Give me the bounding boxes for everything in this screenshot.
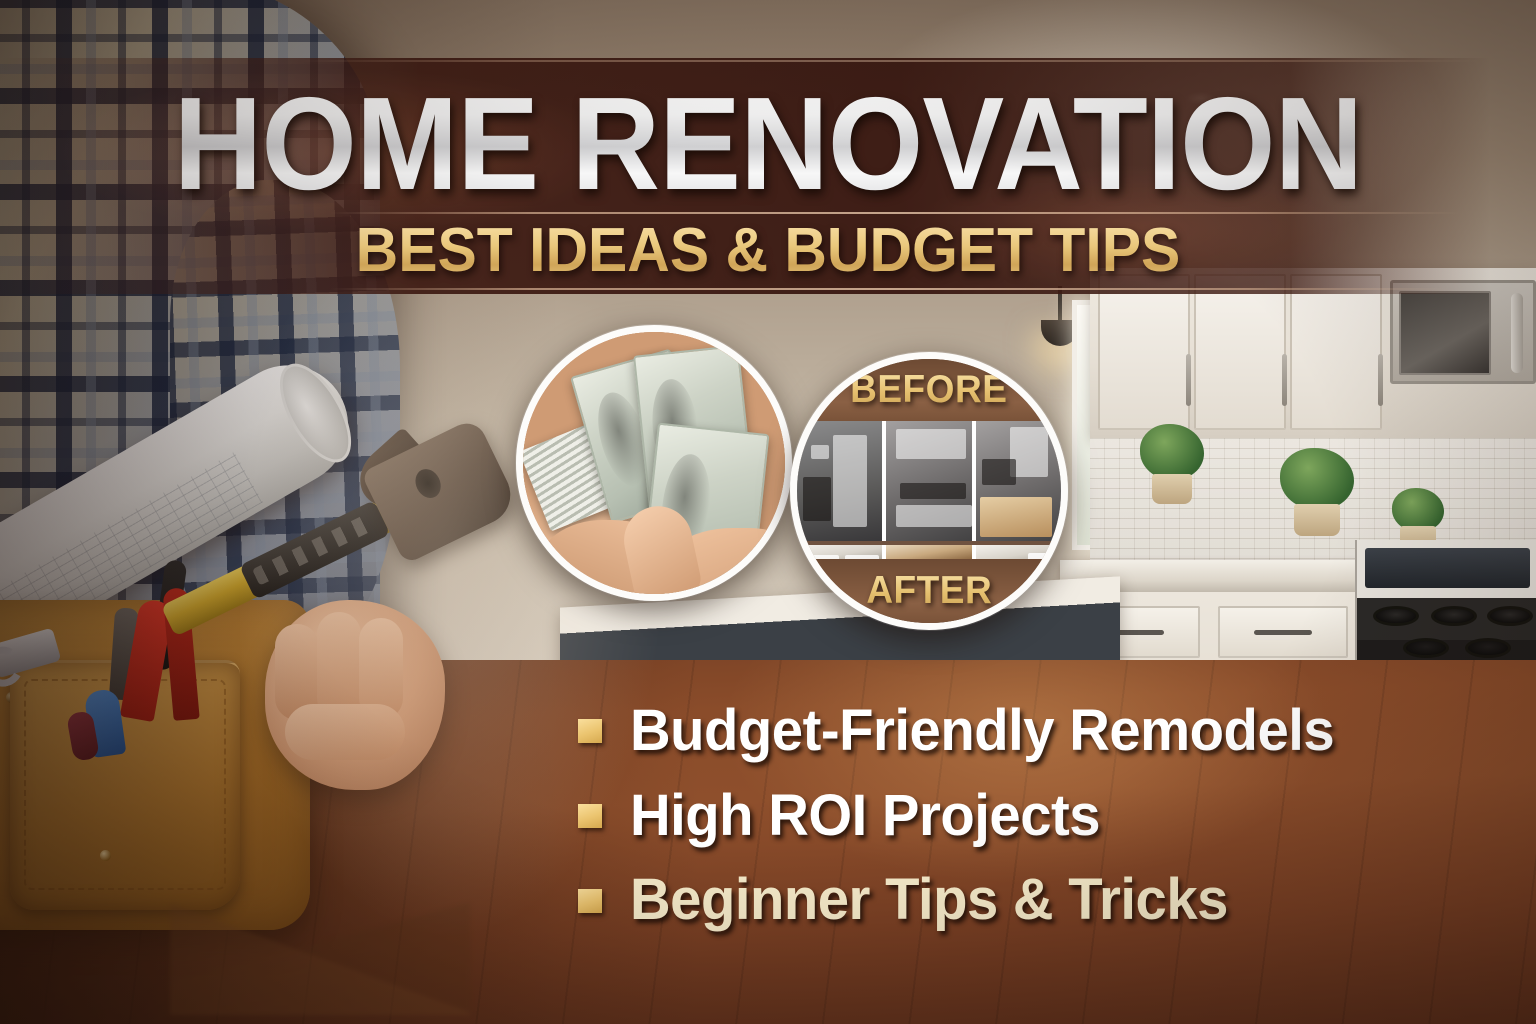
pendant-lamp-icon xyxy=(1058,286,1062,322)
money-photo xyxy=(523,332,785,594)
page-title: HOME RENOVATION xyxy=(54,78,1482,210)
microwave xyxy=(1390,280,1536,384)
before-after-photo: BEFORE AFTER xyxy=(797,359,1061,623)
burner-icon xyxy=(1403,638,1449,658)
before-label: BEFORE xyxy=(850,368,1007,412)
thumb xyxy=(285,704,405,760)
wood-debris xyxy=(170,845,470,1015)
list-item: Budget-Friendly Remodels xyxy=(578,700,1338,763)
burner-icon xyxy=(1373,606,1419,626)
after-photo-row xyxy=(797,545,1061,559)
after-kitchen-left xyxy=(797,545,882,559)
plant-pot xyxy=(1294,504,1340,536)
hammer-grip xyxy=(239,500,390,600)
page-subtitle: BEST IDEAS & BUDGET TIPS xyxy=(38,220,1497,282)
burner-icon xyxy=(1431,606,1477,626)
after-kitchen-center xyxy=(886,545,971,559)
before-label-band: BEFORE xyxy=(797,359,1061,421)
cabinet-door xyxy=(1194,274,1286,430)
burner-icon xyxy=(1465,638,1511,658)
promo-graphic: HOME RENOVATION BEST IDEAS & BUDGET TIPS xyxy=(0,0,1536,1024)
list-item-label: Beginner Tips & Tricks xyxy=(630,869,1228,932)
microwave-handle xyxy=(1511,293,1523,373)
before-kitchen-center xyxy=(886,421,971,541)
bullet-square-icon xyxy=(578,719,602,743)
plant-pot xyxy=(1152,474,1192,504)
hammer-head xyxy=(361,417,521,565)
cabinet-handle xyxy=(1378,354,1383,406)
microwave-window xyxy=(1399,291,1491,375)
banner-rule-bottom xyxy=(330,288,1450,290)
bullet-square-icon xyxy=(578,889,602,913)
before-kitchen-left xyxy=(797,421,882,541)
money-circle-badge xyxy=(516,325,792,601)
cabinet-door xyxy=(1098,274,1190,430)
cabinet-handle xyxy=(1282,354,1287,406)
list-item: High ROI Projects xyxy=(578,785,1338,848)
list-item-label: Budget-Friendly Remodels xyxy=(630,700,1334,763)
gripping-hand xyxy=(265,600,445,790)
after-kitchen-right xyxy=(976,545,1061,559)
after-label: AFTER xyxy=(866,569,992,613)
cabinet-door xyxy=(1290,274,1382,430)
list-item: Beginner Tips & Tricks xyxy=(578,869,1338,932)
cabinet-handle xyxy=(1186,354,1191,406)
after-label-band: AFTER xyxy=(797,559,1061,623)
list-item-label: High ROI Projects xyxy=(630,785,1100,848)
range-control-panel xyxy=(1365,548,1530,588)
before-photo-row xyxy=(797,421,1061,541)
before-after-circle-badge: BEFORE AFTER xyxy=(790,352,1068,630)
bullet-square-icon xyxy=(578,804,602,828)
belt-rivet xyxy=(100,850,111,861)
potted-plant-icon xyxy=(1140,424,1204,480)
banner-rule-top xyxy=(300,60,1480,62)
drawer xyxy=(1218,606,1348,658)
burner-icon xyxy=(1487,606,1533,626)
before-kitchen-right xyxy=(976,421,1061,541)
potted-plant-icon xyxy=(1280,448,1354,510)
feature-list: Budget-Friendly Remodels High ROI Projec… xyxy=(578,700,1338,954)
